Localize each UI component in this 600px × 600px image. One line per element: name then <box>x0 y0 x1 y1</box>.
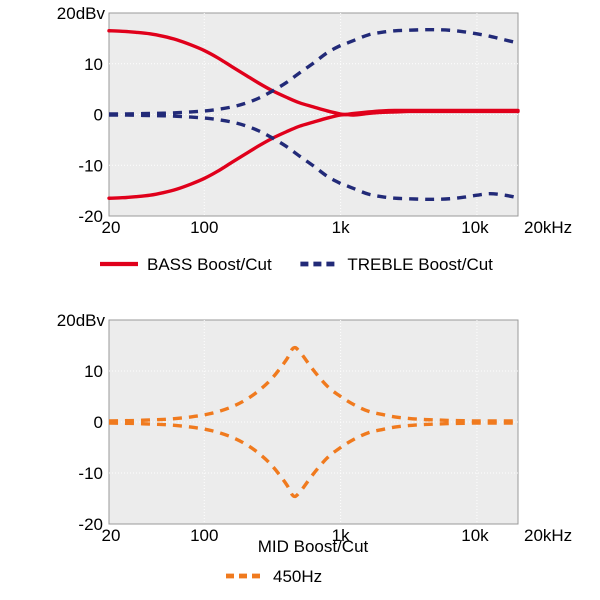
x-tick-10k: 10k <box>461 218 489 237</box>
legend-label-bass: BASS Boost/Cut <box>147 255 272 274</box>
top-chart-panel: 20dBv100-10-20201001k10k20kHzBASS Boost/… <box>0 0 600 290</box>
y-tick-0: 0 <box>94 413 103 432</box>
bottom-chart-panel: 20dBv100-10-20201001k10k20kHzMID Boost/C… <box>0 300 600 600</box>
x-tick-20kHz: 20kHz <box>524 526 572 545</box>
x-tick-10k: 10k <box>461 526 489 545</box>
y-tick-neg10: -10 <box>78 464 103 483</box>
legend: 450Hz <box>226 567 322 586</box>
y-tick-10: 10 <box>84 362 103 381</box>
x-tick-20: 20 <box>102 218 121 237</box>
bass-treble-chart: 20dBv100-10-20201001k10k20kHzBASS Boost/… <box>0 0 600 290</box>
x-tick-20: 20 <box>102 526 121 545</box>
y-tick-neg20: -20 <box>78 207 103 226</box>
legend-label-mid: 450Hz <box>273 567 322 586</box>
y-axis: 20dBv100-10-20 <box>57 4 106 226</box>
y-axis: 20dBv100-10-20 <box>57 311 106 534</box>
eq-response-figure: 20dBv100-10-20201001k10k20kHzBASS Boost/… <box>0 0 600 600</box>
y-axis-top-label: 20dBv <box>57 311 106 330</box>
y-tick-neg10: -10 <box>78 156 103 175</box>
x-tick-100: 100 <box>190 526 218 545</box>
x-axis: 201001k10k20kHz <box>102 218 573 237</box>
y-tick-0: 0 <box>94 106 103 125</box>
y-tick-10: 10 <box>84 55 103 74</box>
legend-label-treble: TREBLE Boost/Cut <box>347 255 493 274</box>
y-tick-neg20: -20 <box>78 515 103 534</box>
x-tick-20kHz: 20kHz <box>524 218 572 237</box>
mid-chart: 20dBv100-10-20201001k10k20kHzMID Boost/C… <box>0 300 600 600</box>
x-tick-100: 100 <box>190 218 218 237</box>
chart-title: MID Boost/Cut <box>258 537 369 556</box>
y-axis-top-label: 20dBv <box>57 4 106 23</box>
legend: BASS Boost/CutTREBLE Boost/Cut <box>100 255 493 274</box>
x-tick-1k: 1k <box>332 218 350 237</box>
